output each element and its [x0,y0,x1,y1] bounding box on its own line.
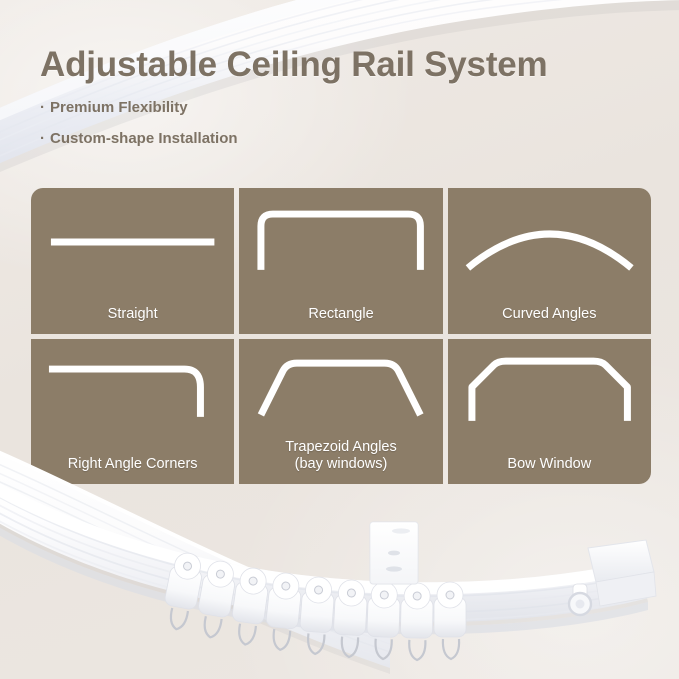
trapezoid-angles-shape-icon [239,345,442,429]
shape-caption-line1: Trapezoid Angles [239,439,442,457]
right-angle-corners-shape-icon [31,345,234,429]
shape-caption: Bow Window [448,456,651,474]
shape-caption: Trapezoid Angles (bay windows) [239,439,442,474]
header-block: Adjustable Ceiling Rail System ·Premium … [40,46,640,162]
shape-caption-line1: Right Angle Corners [31,456,234,474]
feature-bullet-1: ·Premium Flexibility [40,100,640,115]
shape-caption: Straight [31,306,234,324]
page-title: Adjustable Ceiling Rail System [40,46,640,85]
bullet-marker-icon: · [40,131,45,146]
shape-caption: Rectangle [239,306,442,324]
feature-bullet-list: ·Premium Flexibility ·Custom-shape Insta… [40,100,640,146]
shape-caption: Right Angle Corners [31,456,234,474]
shape-tile-rectangle: Rectangle [239,188,442,334]
shape-tile-right-angle-corners: Right Angle Corners [31,339,234,485]
shape-caption-line1: Bow Window [448,456,651,474]
shape-tile-bow-window: Bow Window [448,339,651,485]
feature-bullet-2: ·Custom-shape Installation [40,131,640,146]
feature-bullet-1-label: Premium Flexibility [50,99,188,116]
bow-window-shape-icon [448,345,651,429]
straight-shape-icon [31,194,234,278]
shape-caption-line2: (bay windows) [239,456,442,474]
shape-caption-line1: Straight [31,306,234,324]
feature-bullet-2-label: Custom-shape Installation [50,130,238,147]
shape-caption-line1: Curved Angles [448,306,651,324]
shape-tile-straight: Straight [31,188,234,334]
curved-angles-shape-icon [448,194,651,278]
shape-tile-curved-angles: Curved Angles [448,188,651,334]
shape-caption: Curved Angles [448,306,651,324]
bullet-marker-icon: · [40,100,45,115]
shape-caption-line1: Rectangle [239,306,442,324]
shape-options-grid: Straight Rectangle Curved Angles [31,188,651,484]
shape-tile-trapezoid-angles: Trapezoid Angles (bay windows) [239,339,442,485]
product-infographic: Adjustable Ceiling Rail System ·Premium … [0,0,679,679]
rectangle-shape-icon [239,194,442,278]
